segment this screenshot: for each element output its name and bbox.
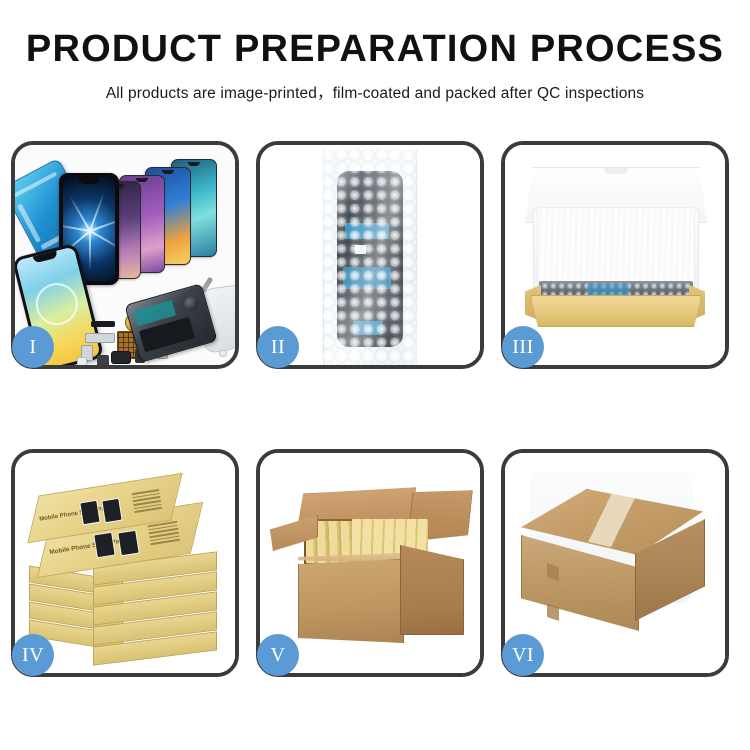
step-badge-3: III	[502, 326, 544, 368]
box-front-wall-icon	[531, 295, 701, 327]
step-badge-2: II	[257, 326, 299, 368]
box-phone-image-b	[117, 530, 140, 557]
carton-side-face-icon	[400, 545, 464, 635]
carton-front-face-icon	[298, 559, 404, 643]
box-phone-image-d	[101, 498, 122, 524]
page-title: PRODUCT PREPARATION PROCESS	[0, 0, 750, 70]
speaker-module-icon	[97, 355, 109, 365]
step-badge-6: VI	[502, 634, 544, 676]
earpiece-mesh-icon	[91, 321, 115, 327]
process-step-panel-2: II	[256, 141, 484, 369]
page-subtitle: All products are image-printed，film-coat…	[0, 70, 750, 103]
box-checklist-top	[131, 489, 162, 515]
step-badge-1: I	[12, 326, 54, 368]
foam-lining-icon	[537, 207, 695, 285]
header: PRODUCT PREPARATION PROCESS All products…	[0, 0, 750, 103]
process-step-panel-1: I	[11, 141, 239, 369]
step-badge-5: V	[257, 634, 299, 676]
process-step-panel-5: V	[256, 449, 484, 677]
sim-tray-icon	[77, 357, 87, 365]
camera-module-icon	[111, 351, 131, 364]
box-checklist-middle	[147, 521, 180, 548]
flex-ribbon-icon	[85, 333, 115, 343]
step-badge-4: IV	[12, 634, 54, 676]
process-step-panel-4: Mobile Phone Spare Parts Mobile Phone Sp…	[11, 449, 239, 677]
plastic-sheen-overlay	[322, 145, 418, 365]
process-step-panel-6: VI	[501, 449, 729, 677]
box-phone-image-c	[79, 500, 100, 526]
box-phone-image-a	[93, 532, 116, 559]
process-step-grid: I II III	[11, 141, 739, 677]
process-step-panel-3: III	[501, 141, 729, 369]
